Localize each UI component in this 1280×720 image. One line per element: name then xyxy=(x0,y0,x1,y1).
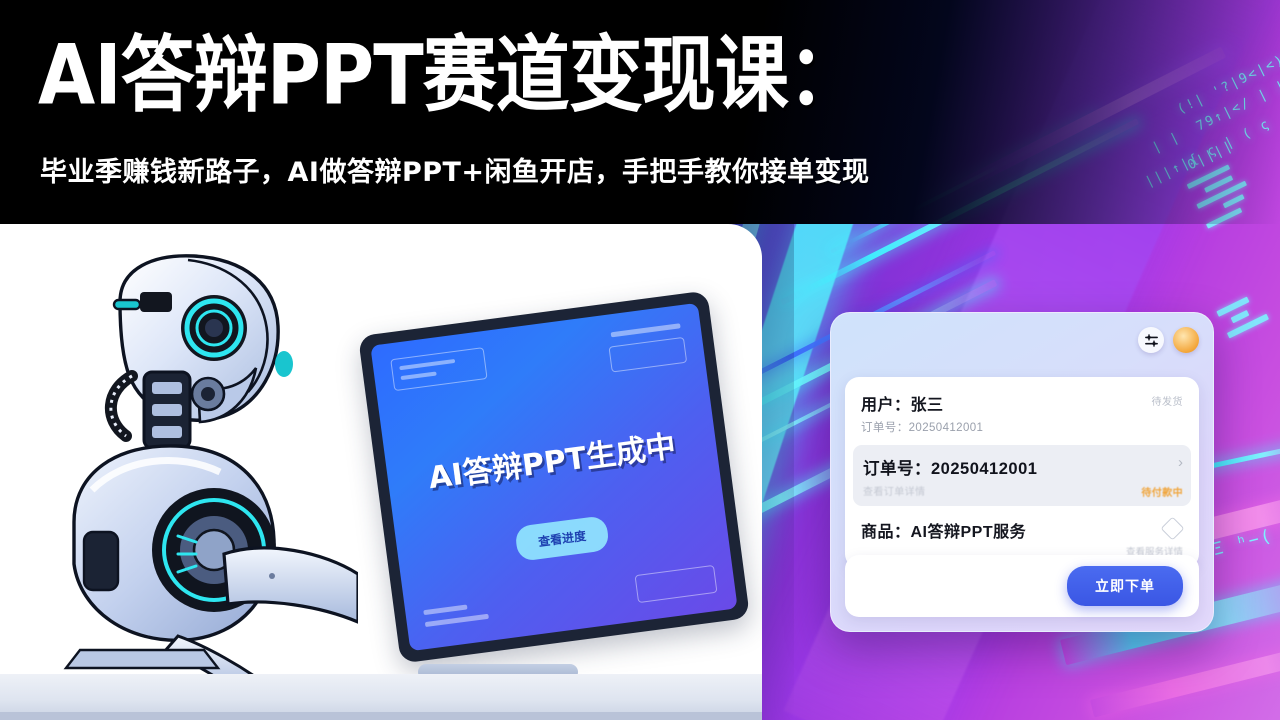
robot-neck xyxy=(111,372,224,448)
computer-monitor: AI答辩PPT生成中 查看进度 xyxy=(358,290,750,663)
screen-deco-box-3 xyxy=(635,565,718,603)
robot-torso xyxy=(74,446,276,640)
header-bar: AI答辩PPT赛道变现课： 毕业季赚钱新路子，AI做答辩PPT+闲鱼开店，手把手… xyxy=(0,0,1280,224)
monitor-screen: AI答辩PPT生成中 查看进度 xyxy=(370,303,737,651)
order-card-footer: 立即下单 xyxy=(845,555,1199,617)
screen-deco-bar-5 xyxy=(423,604,467,615)
ai-robot-illustration xyxy=(28,254,358,694)
status-badge: 待付款中 xyxy=(1141,484,1183,499)
robot-svg xyxy=(28,254,358,694)
illustration-panel: AI答辩PPT生成中 查看进度 xyxy=(0,224,762,720)
sliders-glyph xyxy=(1144,333,1159,348)
banner-stage: (!| '?|9<|<)> - | | ' | | 79↑|</ | | ( |… xyxy=(0,0,1280,720)
screen-status-title: AI答辩PPT生成中 xyxy=(425,421,677,497)
chevron-right-icon[interactable]: › xyxy=(1178,455,1183,470)
page-title: AI答辩PPT赛道变现课： xyxy=(38,34,861,117)
desk-edge xyxy=(0,712,762,720)
order-row-number[interactable]: 订单号：20250412001 查看订单详情 › 待付款中 xyxy=(853,445,1191,506)
order-product-label: 商品：AI答辩PPT服务 xyxy=(861,518,1183,542)
order-number-label: 订单号：20250412001 xyxy=(863,455,1181,479)
card-header-actions xyxy=(1138,327,1199,353)
screen-deco-bar-4 xyxy=(425,614,489,627)
screen-action-button[interactable]: 查看进度 xyxy=(514,515,610,562)
order-user-status: 待发货 xyxy=(1152,393,1184,408)
screen-deco-bar-3 xyxy=(611,323,681,337)
user-avatar[interactable] xyxy=(1173,327,1199,353)
order-details-list: 用户：张三 订单号：20250412001 待发货 订单号：2025041200… xyxy=(845,377,1199,568)
settings-sliders-icon[interactable] xyxy=(1138,327,1164,353)
screen-deco-box-2 xyxy=(608,337,687,373)
order-row-product[interactable]: 商品：AI答辩PPT服务 查看服务详情 xyxy=(861,518,1183,558)
order-user-label: 用户：张三 xyxy=(861,391,1183,415)
page-subtitle: 毕业季赚钱新路子，AI做答辩PPT+闲鱼开店，手把手教你接单变现 xyxy=(40,150,870,189)
order-row-user[interactable]: 用户：张三 订单号：20250412001 待发货 xyxy=(861,391,1183,435)
order-number-sub: 查看订单详情 xyxy=(863,483,1181,498)
order-user-sub: 订单号：20250412001 xyxy=(861,419,1183,435)
order-card: 用户：张三 订单号：20250412001 待发货 订单号：2025041200… xyxy=(830,312,1214,632)
place-order-button[interactable]: 立即下单 xyxy=(1067,566,1183,606)
